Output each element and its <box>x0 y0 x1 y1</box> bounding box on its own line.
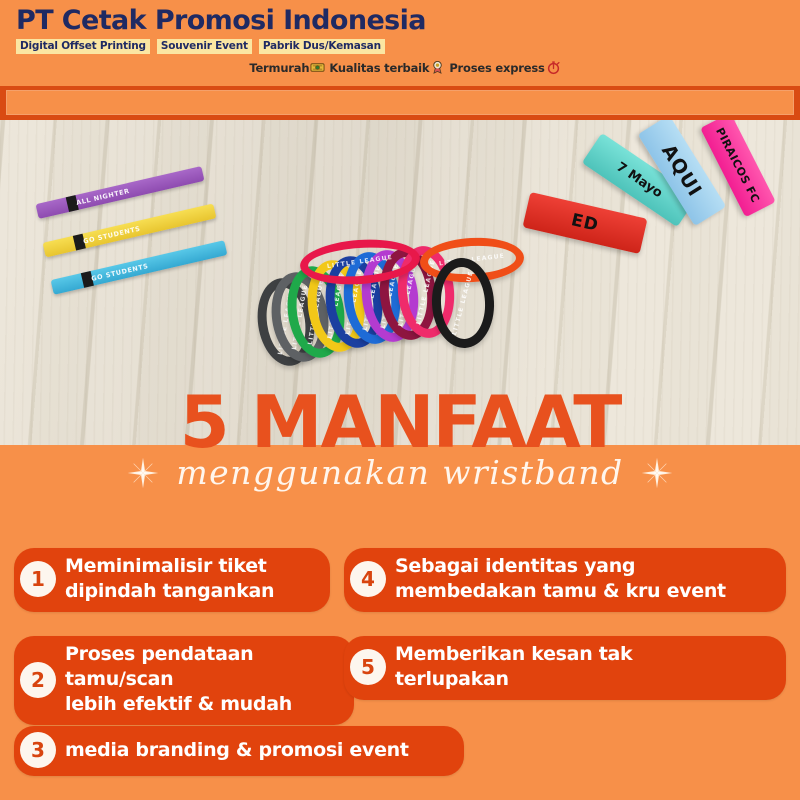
tagline-termurah-label: Termurah <box>249 61 309 75</box>
stopwatch-icon <box>546 60 561 75</box>
badge-pabrik-dus-kemasan: Pabrik Dus/Kemasan <box>259 39 385 54</box>
tagline-kualitas-terbaik: Kualitas terbaik <box>329 60 445 75</box>
tagline-kualitas-terbaik-label: Kualitas terbaik <box>329 61 429 75</box>
benefit-text-5: Memberikan kesan takterlupakan <box>395 642 632 692</box>
benefit-text-4: Sebagai identitas yangmembedakan tamu & … <box>395 554 726 604</box>
tagline-row: Termurah Kualitas terbaik <box>0 60 800 75</box>
benefit-number-4: 4 <box>350 561 386 597</box>
hero-subtitle-row: menggunakan wristband <box>0 453 800 492</box>
announcement-banner <box>0 86 800 120</box>
benefits-list: 1 Meminimalisir tiketdipindah tangankan … <box>0 540 800 800</box>
paper-wristband-red-label: ED <box>569 210 601 236</box>
benefit-text-3: media branding & promosi event <box>65 738 409 763</box>
badge-souvenir-event: Souvenir Event <box>157 39 252 54</box>
sparkle-icon <box>640 456 674 490</box>
medal-icon <box>430 60 445 75</box>
badge-digital-offset-printing: Digital Offset Printing <box>16 39 150 54</box>
tagline-termurah: Termurah <box>249 60 325 75</box>
money-icon <box>310 60 325 75</box>
hero-subtitle: menggunakan wristband <box>176 453 623 492</box>
benefit-number-1: 1 <box>20 561 56 597</box>
silicone-wristband-label: LITTLE LEAGUE <box>327 254 394 270</box>
benefit-item-4[interactable]: 4 Sebagai identitas yangmembedakan tamu … <box>344 548 786 612</box>
benefit-text-2: Proses pendataan tamu/scanlebih efektif … <box>65 642 338 717</box>
benefit-item-1[interactable]: 1 Meminimalisir tiketdipindah tangankan <box>14 548 330 612</box>
tagline-proses-express: Proses express <box>449 60 560 75</box>
header: PT Cetak Promosi Indonesia Digital Offse… <box>0 0 800 85</box>
benefit-text-1: Meminimalisir tiketdipindah tangankan <box>65 554 274 604</box>
hero-title-block: 5 MANFAAT menggunakan wristband <box>0 385 800 515</box>
benefit-item-2[interactable]: 2 Proses pendataan tamu/scanlebih efekti… <box>14 636 354 725</box>
poster-root: PT Cetak Promosi Indonesia Digital Offse… <box>0 0 800 800</box>
benefit-number-3: 3 <box>20 732 56 768</box>
sparkle-icon <box>126 456 160 490</box>
page-title: PT Cetak Promosi Indonesia <box>0 5 800 36</box>
benefit-item-5[interactable]: 5 Memberikan kesan takterlupakan <box>344 636 786 700</box>
benefit-number-2: 2 <box>20 662 56 698</box>
service-badge-row: Digital Offset Printing Souvenir Event P… <box>0 39 800 54</box>
tagline-proses-express-label: Proses express <box>449 61 544 75</box>
benefit-number-5: 5 <box>350 649 386 685</box>
hero-title: 5 MANFAAT <box>0 385 800 459</box>
announcement-banner-inner <box>6 90 794 115</box>
silicone-wristband-label: LITTLE LEAGUE <box>451 270 475 336</box>
benefit-item-3[interactable]: 3 media branding & promosi event <box>14 726 464 776</box>
